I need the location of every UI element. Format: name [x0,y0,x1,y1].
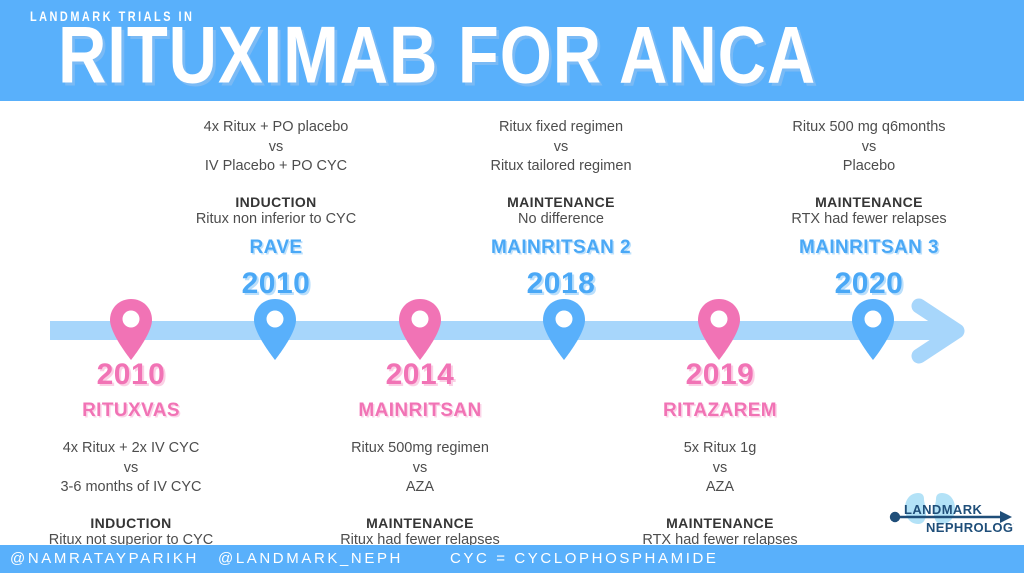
trial-arm-line: IV Placebo + PO CYC [165,157,387,177]
trial-name: RITAZAREM [610,400,830,422]
trial-arm-line: Ritux fixed regimen [452,118,670,138]
trial-phase: MAINTENANCE [452,194,670,210]
footer-abbreviation: CYC = CYCLOPHOSPHAMIDE [450,550,719,567]
trial-arm-line: vs [20,459,242,479]
trial-arm-line: 4x Ritux + 2x IV CYC [20,439,242,459]
trial-result: Ritux non inferior to CYC [165,210,387,229]
pin-rituxvas [108,298,154,362]
trial-arm-line: vs [165,138,387,158]
trial-arm-line: vs [760,138,978,158]
trial-year: 2020 [760,267,978,301]
trial-block-rituxvas: 2010 RITUXVAS 4x Ritux + 2x IV CYC vs 3-… [20,358,242,550]
trial-block-mainritsan-3: Ritux 500 mg q6months vs Placebo MAINTEN… [760,118,978,301]
trial-arm-line: Ritux 500 mg q6months [760,118,978,138]
trial-arm-line: vs [610,459,830,479]
page-title: RITUXIMAB FOR ANCA [58,14,816,97]
trial-block-ritazarem: 2019 RITAZAREM 5x Ritux 1g vs AZA MAINTE… [610,358,830,550]
trial-arm-line: Ritux tailored regimen [452,157,670,177]
trial-block-rave: 4x Ritux + PO placebo vs IV Placebo + PO… [165,118,387,301]
trial-block-mainritsan: 2014 MAINRITSAN Ritux 500mg regimen vs A… [310,358,530,550]
trial-phase: MAINTENANCE [760,194,978,210]
infographic-canvas: LANDMARK TRIALS IN RITUXIMAB FOR ANCA 4x… [0,0,1024,573]
trial-year: 2014 [310,358,530,392]
timeline-bar [50,321,945,340]
trial-phase: MAINTENANCE [310,515,530,531]
pin-ritazarem [696,298,742,362]
trial-name: MAINRITSAN 2 [452,237,670,259]
landmark-nephrology-logo: LANDMARK NEPHROLOGY [884,487,1014,537]
arrow-right-icon [905,296,975,366]
pin-mainritsan-2 [541,298,587,362]
pin-mainritsan-3 [850,298,896,362]
trial-name: RITUXVAS [20,400,242,422]
logo-line1: LANDMARK [904,502,983,517]
trial-arm-line: 5x Ritux 1g [610,439,830,459]
trial-arm-line: AZA [310,478,530,498]
footer-handle-brand: @LANDMARK_NEPH [218,550,403,567]
logo-line2: NEPHROLOGY [926,520,1014,535]
trial-year: 2018 [452,267,670,301]
trial-arm-line: AZA [610,478,830,498]
trial-arm-line: 4x Ritux + PO placebo [165,118,387,138]
trial-phase: INDUCTION [20,515,242,531]
trial-arm-line: 3-6 months of IV CYC [20,478,242,498]
trial-arm-line: Ritux 500mg regimen [310,439,530,459]
trial-name: MAINRITSAN 3 [760,237,978,259]
trial-year: 2010 [165,267,387,301]
trial-arm-line: vs [452,138,670,158]
trial-phase: MAINTENANCE [610,515,830,531]
trial-phase: INDUCTION [165,194,387,210]
trial-arm-line: vs [310,459,530,479]
footer-handle-author: @NAMRATAYPARIKH [10,550,199,567]
header-banner: LANDMARK TRIALS IN RITUXIMAB FOR ANCA [0,0,1024,101]
footer-bar: @NAMRATAYPARIKH @LANDMARK_NEPH CYC = CYC… [0,545,1024,573]
pin-rave [252,298,298,362]
trial-result: RTX had fewer relapses [760,210,978,229]
trial-name: MAINRITSAN [310,400,530,422]
trial-result: No difference [452,210,670,229]
pin-mainritsan [397,298,443,362]
trial-year: 2010 [20,358,242,392]
trial-arm-line: Placebo [760,157,978,177]
trial-year: 2019 [610,358,830,392]
trial-block-mainritsan-2: Ritux fixed regimen vs Ritux tailored re… [452,118,670,301]
trial-name: RAVE [165,237,387,259]
